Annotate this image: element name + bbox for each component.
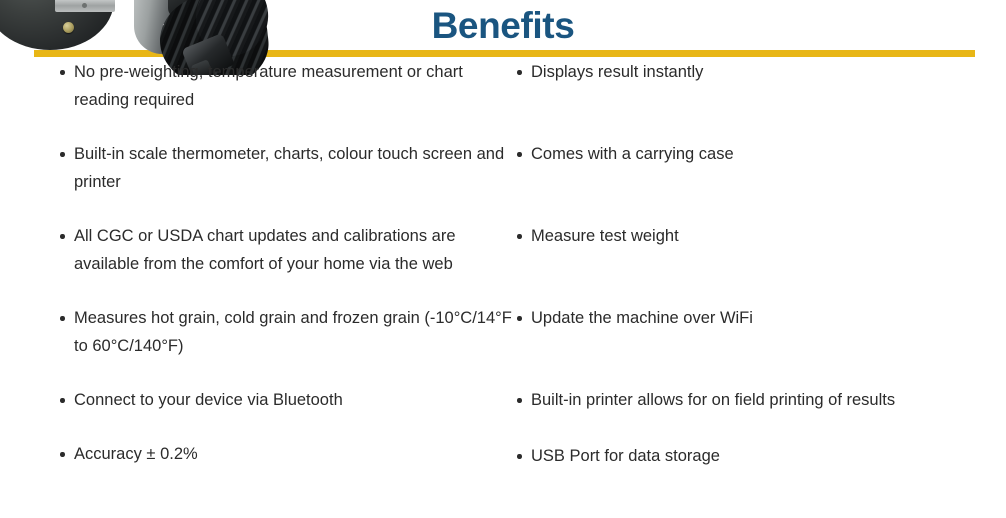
list-item: Built-in printer allows for on field pri… <box>503 386 983 414</box>
list-item: No pre-weighting, temperature measuremen… <box>46 58 516 114</box>
list-item: Accuracy ± 0.2% <box>46 440 516 468</box>
benefits-list-right: Displays result instantly Comes with a c… <box>503 58 983 470</box>
list-item: USB Port for data storage <box>503 442 983 470</box>
list-item: Built-in scale thermometer, charts, colo… <box>46 140 516 196</box>
list-item: Displays result instantly <box>503 58 983 86</box>
benefits-column-right: Displays result instantly Comes with a c… <box>503 58 983 498</box>
list-item: Comes with a carrying case <box>503 140 983 168</box>
benefits-slide: Benefits No pre-weighting, temperature m… <box>0 0 1006 518</box>
list-item: Measures hot grain, cold grain and froze… <box>46 304 516 360</box>
benefits-list-left: No pre-weighting, temperature measuremen… <box>46 58 516 468</box>
list-item: Measure test weight <box>503 222 983 250</box>
device-plate-dot <box>82 3 87 8</box>
benefits-column-left: No pre-weighting, temperature measuremen… <box>46 58 516 494</box>
list-item: Connect to your device via Bluetooth <box>46 386 516 414</box>
device-screw-icon <box>63 22 74 33</box>
list-item: Update the machine over WiFi <box>503 304 983 332</box>
benefits-content: No pre-weighting, temperature measuremen… <box>0 58 1006 518</box>
list-item: All CGC or USDA chart updates and calibr… <box>46 222 516 278</box>
